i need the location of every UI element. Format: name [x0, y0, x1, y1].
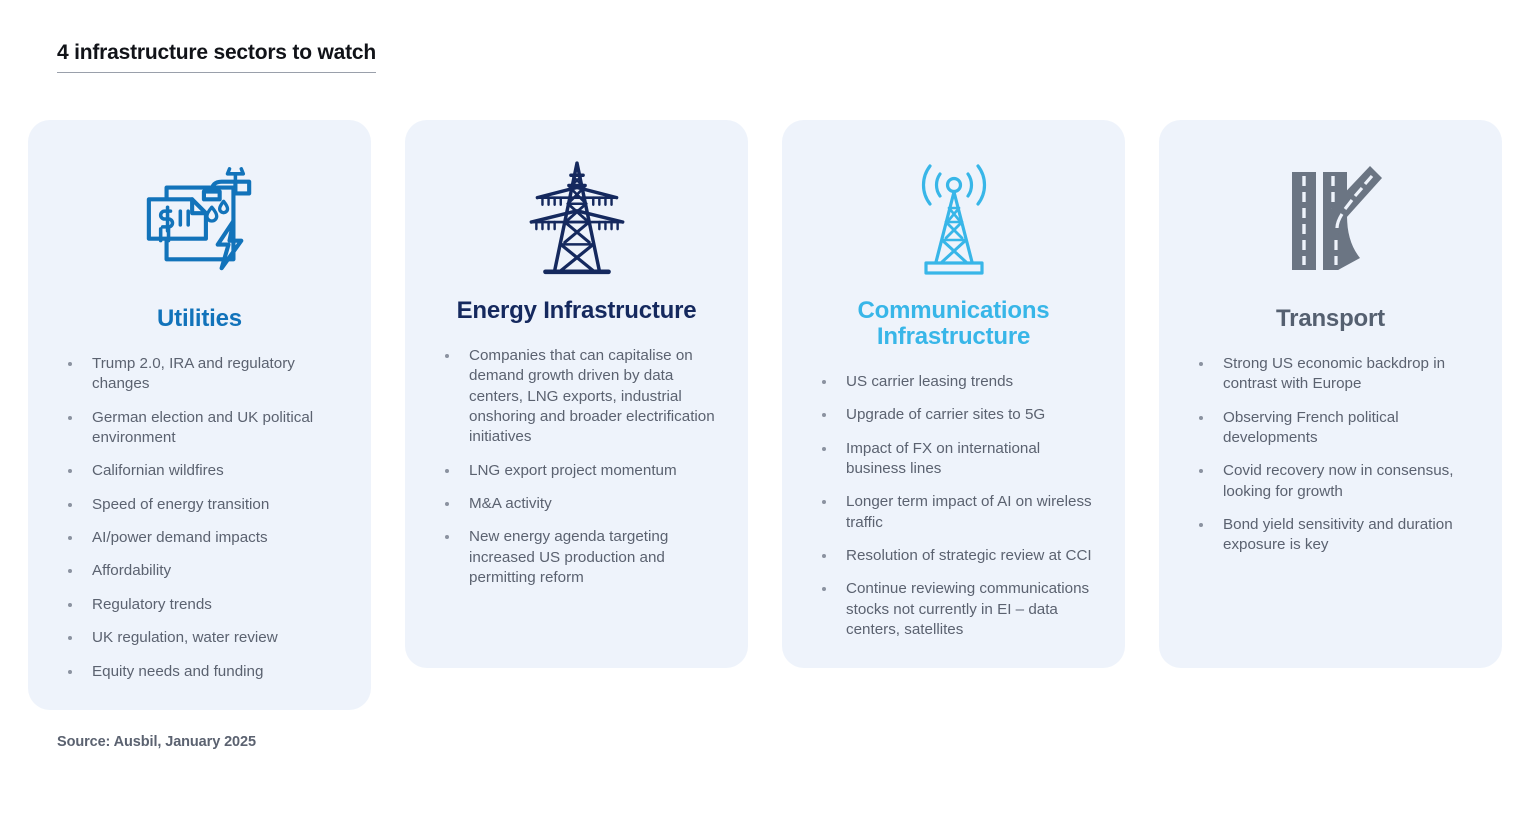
list-item: Resolution of strategic review at CCI [820, 546, 1101, 566]
bullet-text: Longer term impact of AI on wireless tra… [846, 493, 1092, 530]
bullet-text: Trump 2.0, IRA and regulatory changes [92, 355, 295, 392]
sector-card-transport[interactable]: Transport Strong US economic backdrop in… [1159, 120, 1502, 668]
bullet-list-energy-infrastructure: Companies that can capitalise on demand … [425, 346, 728, 589]
bullet-dot-icon [68, 670, 72, 674]
list-item: Upgrade of carrier sites to 5G [820, 405, 1101, 425]
list-item: Companies that can capitalise on demand … [443, 346, 724, 448]
bullet-text: Strong US economic backdrop in contrast … [1223, 355, 1445, 392]
radio-tower-icon [802, 146, 1105, 296]
bullet-dot-icon [822, 413, 826, 417]
card-title-transport: Transport [1179, 306, 1482, 332]
list-item: Regulatory trends [66, 595, 347, 615]
bullet-dot-icon [1199, 469, 1203, 473]
list-item: AI/power demand impacts [66, 528, 347, 548]
bullet-list-transport: Strong US economic backdrop in contrast … [1179, 354, 1482, 556]
bullet-dot-icon [1199, 523, 1203, 527]
bullet-dot-icon [68, 503, 72, 507]
list-item: LNG export project momentum [443, 461, 724, 481]
bullet-dot-icon [68, 569, 72, 573]
card-title-utilities: Utilities [48, 306, 351, 332]
bullet-text: Impact of FX on international business l… [846, 440, 1040, 477]
list-item: Observing French political developments [1197, 408, 1478, 449]
bullet-text: Covid recovery now in consensus, looking… [1223, 462, 1453, 499]
list-item: UK regulation, water review [66, 628, 347, 648]
list-item: M&A activity [443, 494, 724, 514]
bullet-dot-icon [68, 603, 72, 607]
bullet-text: Upgrade of carrier sites to 5G [846, 406, 1045, 423]
bullet-dot-icon [68, 362, 72, 366]
sector-card-energy-infrastructure[interactable]: Energy Infrastructure Companies that can… [405, 120, 748, 668]
list-item: Trump 2.0, IRA and regulatory changes [66, 354, 347, 395]
bullet-text: German election and UK political environ… [92, 409, 313, 446]
list-item: German election and UK political environ… [66, 408, 347, 449]
infographic-page: 4 infrastructure sectors to watch [0, 0, 1527, 815]
bullet-text: Regulatory trends [92, 596, 212, 613]
list-item: Bond yield sensitivity and duration expo… [1197, 515, 1478, 556]
bullet-text: Bond yield sensitivity and duration expo… [1223, 516, 1453, 553]
list-item: Longer term impact of AI on wireless tra… [820, 492, 1101, 533]
bullet-text: Affordability [92, 562, 171, 579]
list-item: Speed of energy transition [66, 495, 347, 515]
bullet-dot-icon [445, 535, 449, 539]
bullet-text: Companies that can capitalise on demand … [469, 347, 715, 445]
list-item: Affordability [66, 561, 347, 581]
list-item: Covid recovery now in consensus, looking… [1197, 461, 1478, 502]
bullet-dot-icon [822, 554, 826, 558]
card-title-communications-infrastructure: Communications Infrastructure [802, 298, 1105, 350]
bullet-text: Californian wildfires [92, 462, 224, 479]
bullet-dot-icon [1199, 362, 1203, 366]
card-title-energy-infrastructure: Energy Infrastructure [425, 298, 728, 324]
sector-cards-row: Utilities Trump 2.0, IRA and regulatory … [28, 120, 1503, 710]
list-item: New energy agenda targeting increased US… [443, 527, 724, 588]
list-item: Equity needs and funding [66, 662, 347, 682]
source-note: Source: Ausbil, January 2025 [57, 734, 256, 750]
bullet-dot-icon [822, 500, 826, 504]
bullet-dot-icon [445, 469, 449, 473]
page-title: 4 infrastructure sectors to watch [57, 41, 376, 73]
bullet-dot-icon [68, 636, 72, 640]
bullet-text: Equity needs and funding [92, 663, 263, 680]
bullet-text: LNG export project momentum [469, 462, 677, 479]
sector-card-utilities[interactable]: Utilities Trump 2.0, IRA and regulatory … [28, 120, 371, 710]
list-item: US carrier leasing trends [820, 372, 1101, 392]
bullet-dot-icon [822, 380, 826, 384]
bullet-dot-icon [822, 447, 826, 451]
bullet-text: M&A activity [469, 495, 552, 512]
bullet-text: UK regulation, water review [92, 629, 278, 646]
road-fork-icon [1179, 146, 1482, 296]
bullet-text: New energy agenda targeting increased US… [469, 528, 668, 586]
page-title-container: 4 infrastructure sectors to watch [57, 41, 376, 73]
bullet-dot-icon [68, 469, 72, 473]
transmission-pylon-icon [425, 146, 728, 296]
list-item: Continue reviewing communications stocks… [820, 579, 1101, 640]
utility-bill-faucet-bolt-icon [48, 146, 351, 296]
bullet-dot-icon [68, 416, 72, 420]
bullet-list-utilities: Trump 2.0, IRA and regulatory changes Ge… [48, 354, 351, 682]
list-item: Californian wildfires [66, 461, 347, 481]
bullet-text: US carrier leasing trends [846, 373, 1013, 390]
bullet-text: Speed of energy transition [92, 496, 269, 513]
bullet-text: Resolution of strategic review at CCI [846, 547, 1092, 564]
bullet-dot-icon [68, 536, 72, 540]
bullet-dot-icon [445, 502, 449, 506]
bullet-dot-icon [445, 354, 449, 358]
bullet-list-communications-infrastructure: US carrier leasing trends Upgrade of car… [802, 372, 1105, 641]
bullet-text: Continue reviewing communications stocks… [846, 580, 1089, 638]
list-item: Strong US economic backdrop in contrast … [1197, 354, 1478, 395]
sector-card-communications-infrastructure[interactable]: Communications Infrastructure US carrier… [782, 120, 1125, 668]
bullet-text: AI/power demand impacts [92, 529, 268, 546]
bullet-dot-icon [822, 587, 826, 591]
bullet-dot-icon [1199, 416, 1203, 420]
list-item: Impact of FX on international business l… [820, 439, 1101, 480]
bullet-text: Observing French political developments [1223, 409, 1399, 446]
